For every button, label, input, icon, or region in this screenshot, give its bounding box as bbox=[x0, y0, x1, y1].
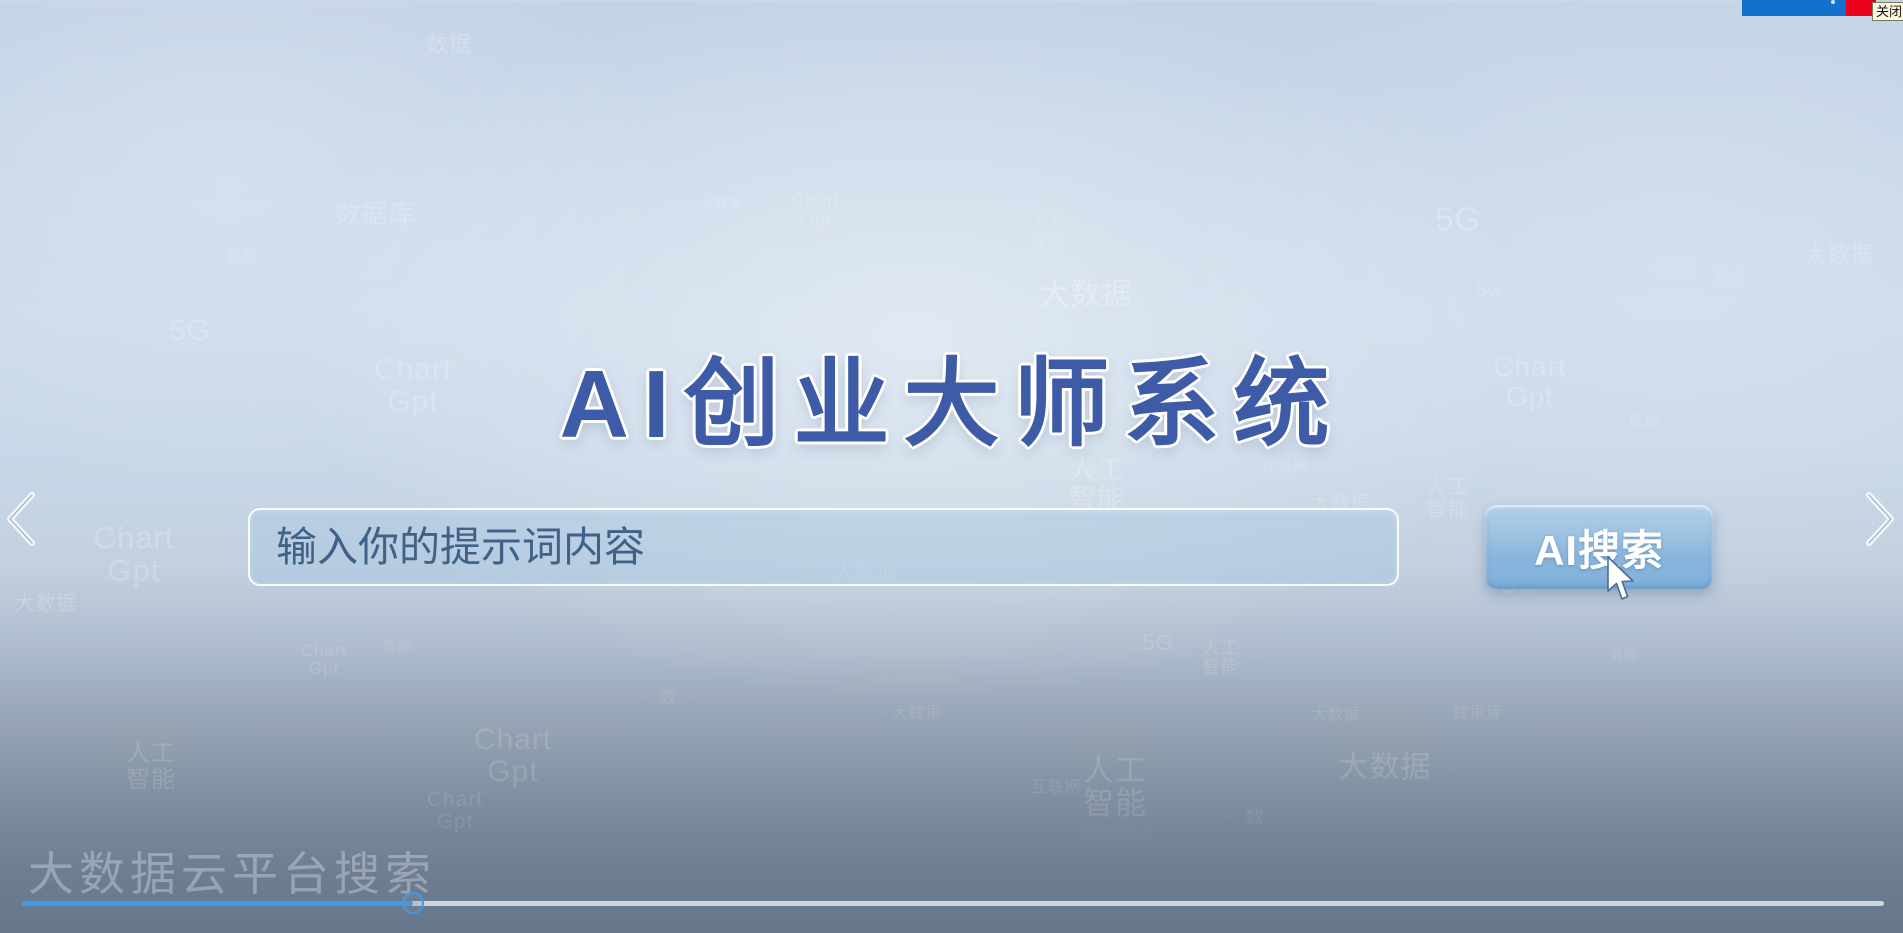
carousel-next-icon[interactable] bbox=[1855, 488, 1899, 550]
ai-search-button[interactable]: AI搜索 bbox=[1485, 505, 1713, 589]
background-tag-hexagon: Chart Gpt bbox=[285, 624, 363, 696]
bottom-slider[interactable] bbox=[22, 892, 1884, 914]
background-tag-hexagon: 数据 bbox=[212, 228, 274, 285]
background-tag-hexagon: Chart Gpt bbox=[452, 700, 574, 812]
background-tag-hexagon: 数 bbox=[640, 672, 696, 724]
background-tag-hexagon: 大数据 bbox=[690, 175, 752, 232]
window-control-dot-icon bbox=[1831, 0, 1835, 4]
background-light-wash bbox=[0, 0, 1903, 933]
background-vignette bbox=[0, 0, 1903, 933]
background-tag-hexagon: 5G bbox=[1458, 262, 1520, 319]
background-tag-hexagon: 大数据 bbox=[1300, 682, 1372, 748]
background-tag-hexagon: 大数据 bbox=[0, 562, 92, 647]
page-title: AI创业大师系统 bbox=[0, 326, 1903, 465]
background-tag-hexagon: 5G bbox=[1404, 170, 1512, 269]
background-tag-hexagon: 数据 bbox=[400, 0, 498, 90]
background-tag-hexagon: 人工 智能 bbox=[1180, 620, 1262, 695]
background-tag-hexagon: 大数据 bbox=[1790, 210, 1888, 300]
background-tag-hexagon: Chart Gpt bbox=[410, 770, 500, 853]
background-tag-hexagon: 数据库 bbox=[305, 150, 445, 279]
background-tag-hexagon: 人工 智能 bbox=[98, 718, 204, 816]
background-tag-hexagon: 互联网 bbox=[1020, 755, 1092, 821]
background-tag-hexagon: 数 bbox=[1225, 790, 1285, 845]
close-tooltip: 关闭 bbox=[1872, 2, 1903, 21]
slider-handle[interactable] bbox=[402, 892, 424, 914]
background-tag-hexagon: 大数据 bbox=[1318, 706, 1452, 829]
slider-fill bbox=[22, 901, 413, 906]
background-tag-hexagon: 数据 bbox=[1700, 250, 1760, 305]
background-tag-hexagon: 5G bbox=[1120, 608, 1196, 678]
carousel-prev-icon[interactable] bbox=[2, 488, 46, 550]
window-top-edge bbox=[0, 0, 1742, 2]
background-tag-hexagon: 人工 智能 bbox=[1012, 200, 1084, 266]
background-tag-hexagon: Chart Gpt bbox=[775, 172, 857, 247]
background-tag-hexagon: 智能 bbox=[368, 620, 426, 673]
background-tag-hexagon: 数据 bbox=[1596, 630, 1652, 682]
background-tag-hexagon: Chart Gpt bbox=[72, 498, 196, 612]
background-tag-hexagon: 数据库 bbox=[1440, 680, 1516, 750]
app-canvas: 数据库5G数据Chart GptChart Gpt大数据Chart Gpt人工 … bbox=[0, 0, 1903, 933]
prompt-search-input[interactable] bbox=[248, 508, 1399, 586]
background-tag-hexagon: 大数据 bbox=[880, 680, 954, 748]
search-row: AI搜索 bbox=[248, 508, 1713, 586]
background-tag-hexagon: 人工 智能 bbox=[1050, 728, 1180, 848]
